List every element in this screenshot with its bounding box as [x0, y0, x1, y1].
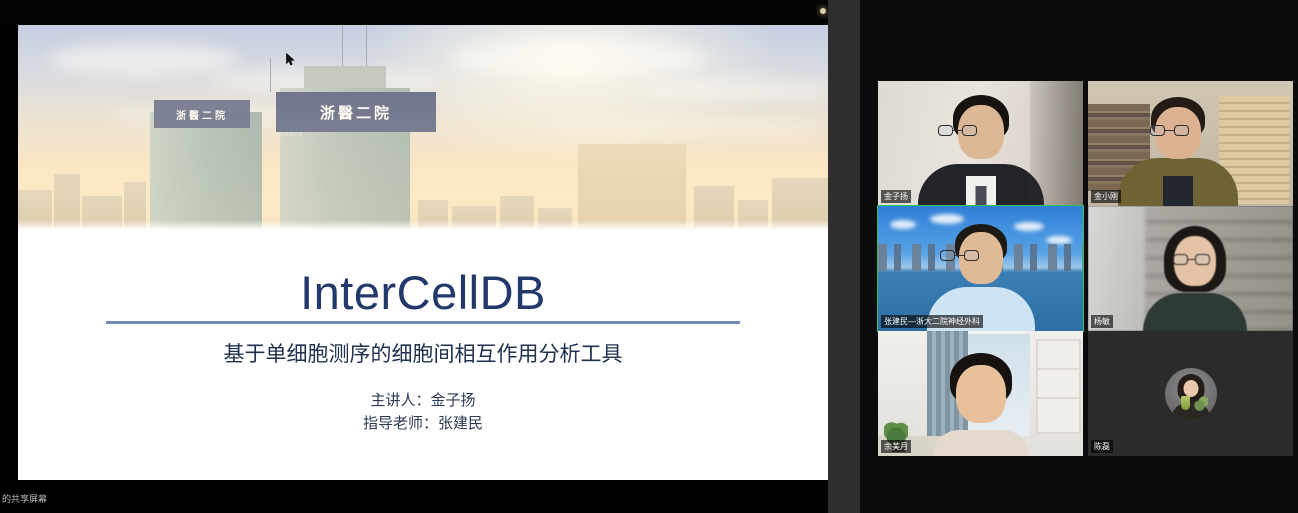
- participant-grid: 金子扬 金小刚: [860, 0, 1298, 513]
- share-status-bar: 的共享屏幕: [0, 480, 828, 513]
- avatar-face: [1183, 380, 1198, 397]
- share-side-gutter: [828, 0, 860, 513]
- share-status-text: 的共享屏幕: [2, 492, 47, 505]
- participant-tile[interactable]: 金子扬: [878, 81, 1083, 206]
- participant-video: [1088, 206, 1293, 331]
- participant-tile[interactable]: 金小刚: [1088, 81, 1293, 206]
- slide-title: InterCellDB: [18, 265, 828, 320]
- cloud: [448, 39, 708, 77]
- participant-video: [878, 206, 1083, 331]
- cloud: [538, 117, 828, 139]
- hospital-sign-abbrev: SAHZU: [280, 132, 304, 138]
- hospital-sign-primary: 浙醫二院: [276, 92, 436, 132]
- video-conference-window: 浙醫二院 浙醫二院 SAHZU InterCellDB 基于单细胞测序的细胞间相…: [0, 0, 1298, 513]
- slide-credits: 主讲人：金子扬 指导老师：张建民: [18, 390, 828, 435]
- building-left: [150, 112, 262, 230]
- shared-screen-region[interactable]: 浙醫二院 浙醫二院 SAHZU InterCellDB 基于单细胞测序的细胞间相…: [0, 0, 860, 513]
- participant-video: [878, 331, 1083, 456]
- avatar-drink: [1181, 396, 1190, 410]
- slide-divider: [106, 321, 740, 324]
- participant-video: [878, 81, 1083, 206]
- recording-dot-icon: [820, 8, 826, 14]
- participant-tile[interactable]: 余美月: [878, 331, 1083, 456]
- participant-name: 张建民—浙大二院神经外科: [881, 315, 983, 328]
- share-top-bar: [0, 0, 828, 25]
- participant-video: [1088, 81, 1293, 206]
- slide-hero-image: 浙醫二院 浙醫二院 SAHZU: [18, 25, 828, 230]
- participant-tile-camera-off[interactable]: 陈磊: [1088, 331, 1293, 456]
- participant-tile-active-speaker[interactable]: 张建民—浙大二院神经外科: [878, 206, 1083, 331]
- participant-name: 余美月: [881, 440, 911, 453]
- participant-name: 陈磊: [1091, 440, 1113, 453]
- participant-name: 金小刚: [1091, 190, 1121, 203]
- presentation-slide[interactable]: 浙醫二院 浙醫二院 SAHZU InterCellDB 基于单细胞测序的细胞间相…: [18, 25, 828, 480]
- building-rooftop: [304, 66, 386, 88]
- avatar-foliage: [1194, 396, 1208, 412]
- advisor-line: 指导老师：张建民: [18, 413, 828, 436]
- shelf-unit: [1036, 339, 1081, 434]
- participant-name: 金子扬: [881, 190, 911, 203]
- presenter-line: 主讲人：金子扬: [18, 390, 828, 413]
- hospital-sign-secondary: 浙醫二院: [154, 100, 250, 128]
- avatar: [1165, 368, 1217, 420]
- cloud: [638, 77, 828, 103]
- hero-bottom-fade: [18, 220, 828, 230]
- participant-name: 杨敏: [1091, 315, 1113, 328]
- mouse-cursor-icon: [286, 53, 295, 66]
- building-right: [578, 144, 686, 230]
- slide-subtitle: 基于单细胞测序的细胞间相互作用分析工具: [18, 338, 828, 368]
- participant-tile[interactable]: 杨敏: [1088, 206, 1293, 331]
- city-skyline: [18, 155, 828, 230]
- participant-video-placeholder: [1088, 331, 1293, 456]
- cloud: [48, 43, 238, 77]
